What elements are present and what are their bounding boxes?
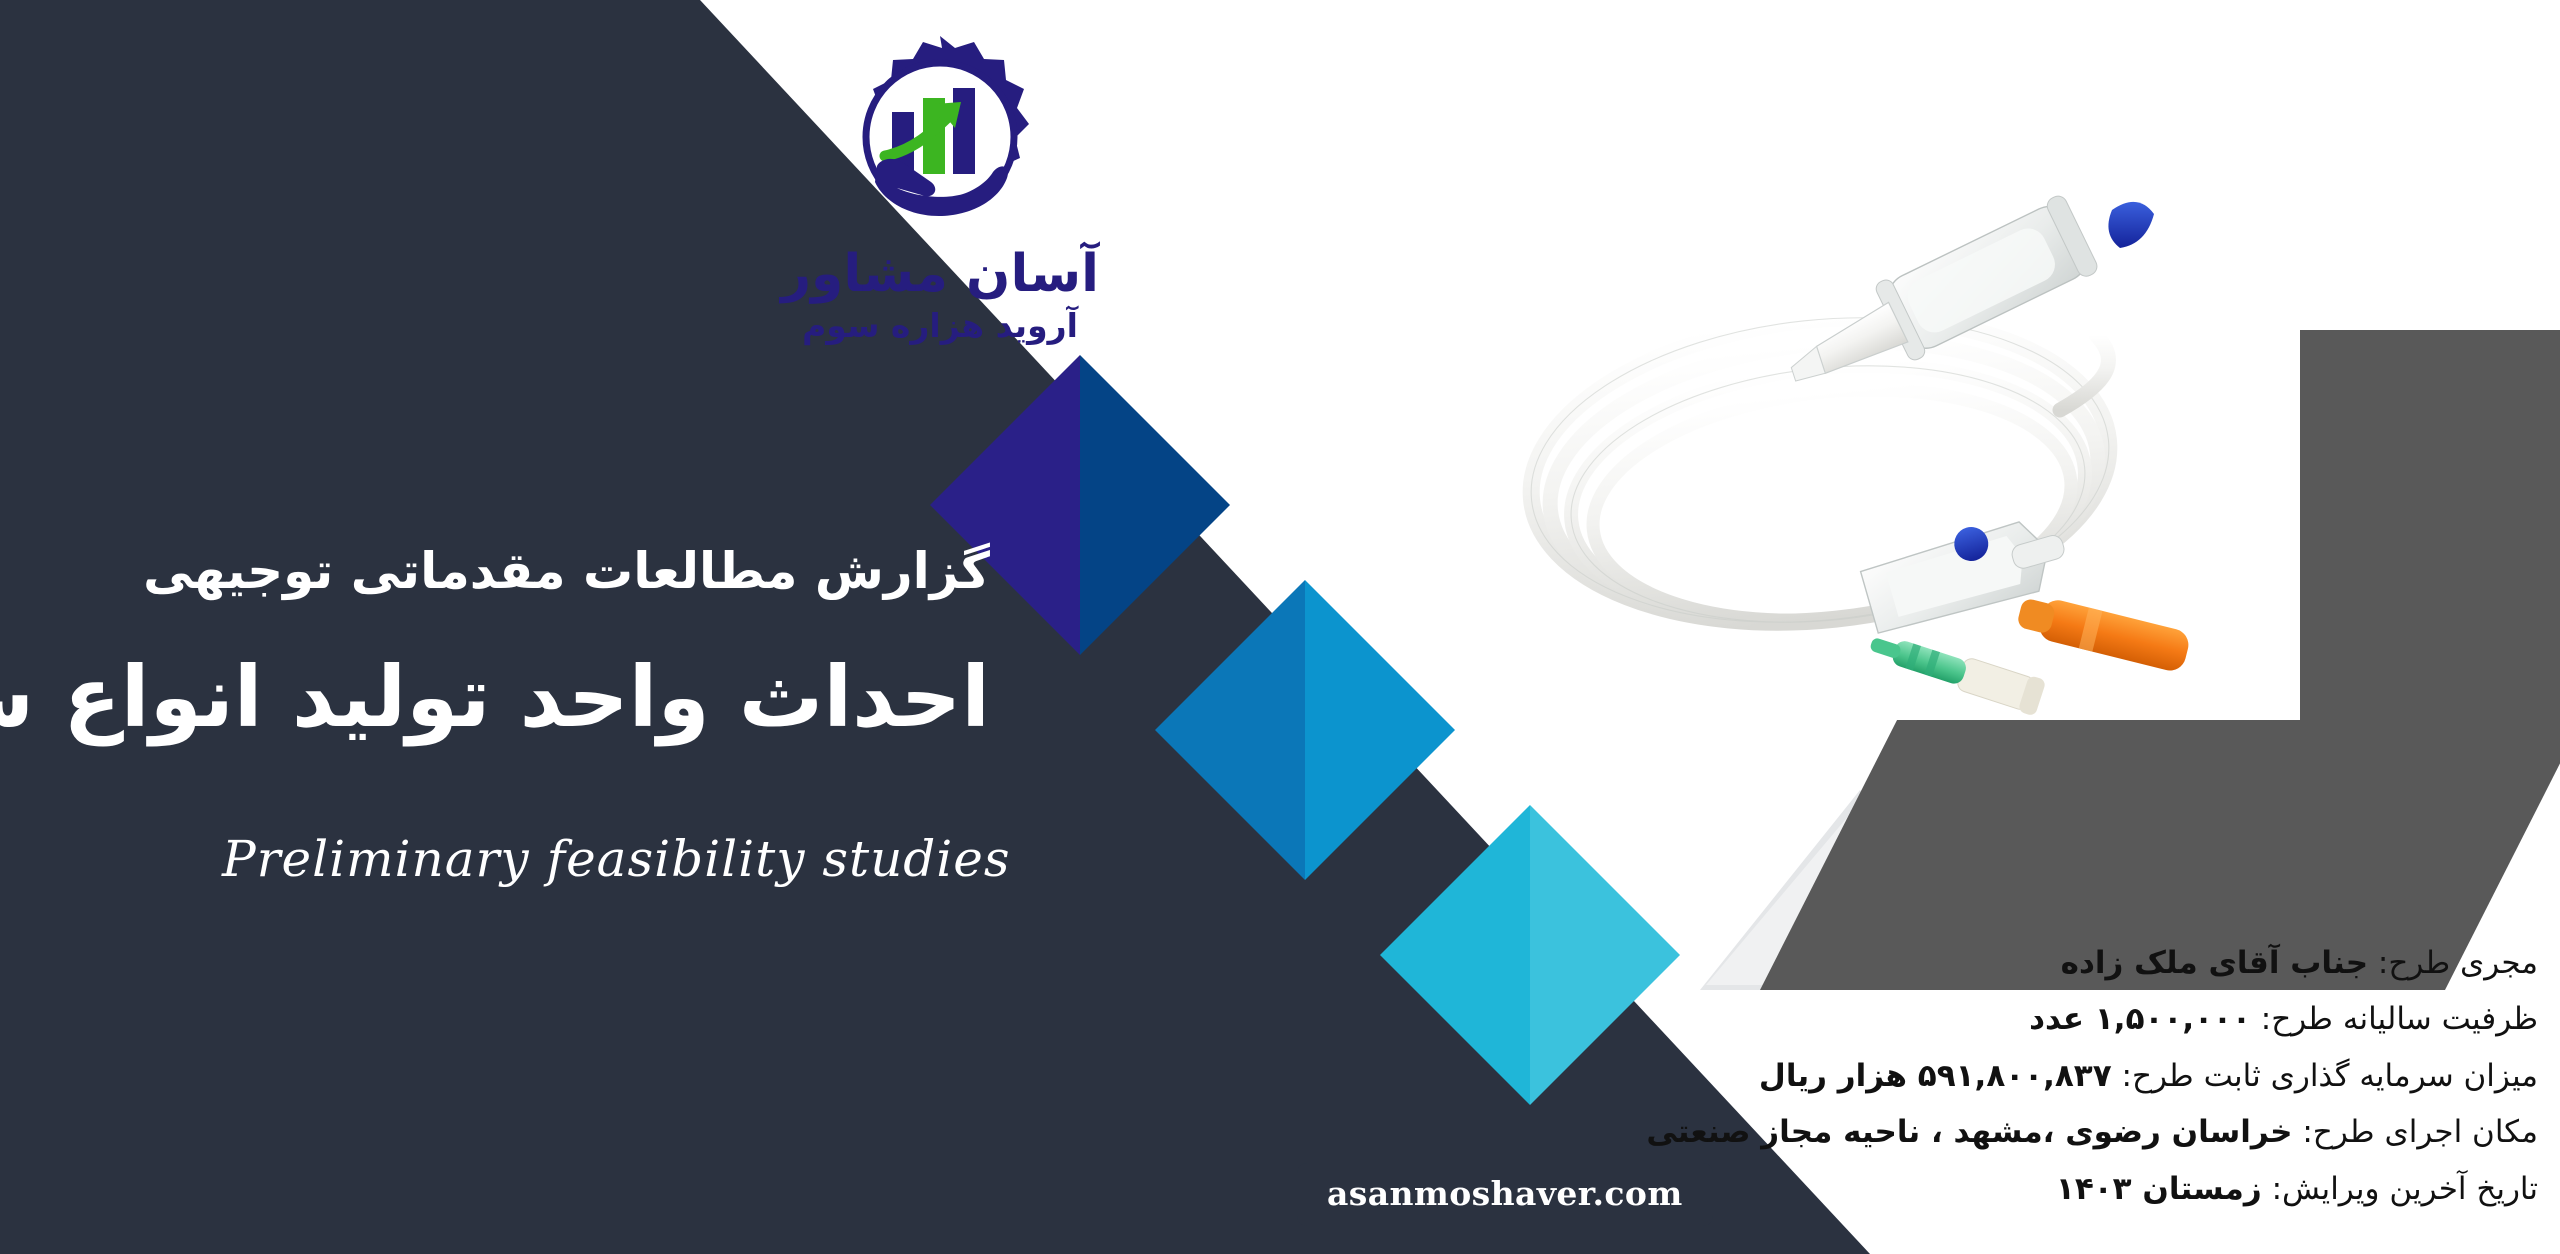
info-row-value: زمستان ۱۴۰۳ [2056, 1171, 2262, 1207]
info-row-value: خراسان رضوی ،مشهد ، ناحیه مجاز صنعتی [1646, 1114, 2292, 1150]
info-row-value: ۵۹۱,۸۰۰,۸۳۷ هزار ریال [1759, 1058, 2112, 1094]
info-row-value: ۱,۵۰۰,۰۰۰ عدد [2029, 1001, 2251, 1037]
info-row: میزان سرمایه گذاری ثابت طرح: ۵۹۱,۸۰۰,۸۳۷… [1646, 1048, 2538, 1104]
info-row: ظرفیت سالیانه طرح: ۱,۵۰۰,۰۰۰ عدد [1646, 991, 2538, 1047]
info-row-value: جناب آقای ملک زاده [2061, 945, 2368, 981]
logo-tagline: آروید هزاره سوم [780, 306, 1100, 346]
report-subtitle: گزارش مطالعات مقدماتی توجیهی [0, 540, 990, 603]
info-row-label: تاریخ آخرین ویرایش: [2272, 1171, 2538, 1207]
info-row-label: مجری طرح: [2378, 945, 2538, 981]
english-subtitle: Preliminary feasibility studies [0, 830, 990, 888]
page-title: احداث واحد تولید انواع ست سرم [0, 643, 990, 752]
company-logo: آسان مشاور آروید هزاره سوم [780, 30, 1100, 370]
info-row-label: مکان اجرای طرح: [2302, 1114, 2538, 1150]
info-row-label: میزان سرمایه گذاری ثابت طرح: [2122, 1058, 2539, 1094]
gear-hand-growth-chart-icon [835, 30, 1045, 245]
diamond-accent-chain [930, 355, 1830, 955]
website-badge[interactable]: asanmoshaver.com [1297, 1163, 1713, 1226]
info-row: تاریخ آخرین ویرایش: زمستان ۱۴۰۳ [1646, 1161, 2538, 1217]
logo-name: آسان مشاور [780, 247, 1100, 302]
info-row: مجری طرح: جناب آقای ملک زاده [1646, 935, 2538, 991]
info-row: مکان اجرای طرح: خراسان رضوی ،مشهد ، ناحی… [1646, 1104, 2538, 1160]
project-info-list: مجری طرح: جناب آقای ملک زاده ظرفیت سالیا… [1646, 935, 2538, 1217]
info-row-label: ظرفیت سالیانه طرح: [2261, 1001, 2538, 1037]
diamond-3 [1380, 805, 1680, 1105]
cover-page: آسان مشاور آروید هزاره سوم گزارش مطالعات… [0, 0, 2560, 1254]
title-block: گزارش مطالعات مقدماتی توجیهی احداث واحد … [0, 540, 990, 888]
